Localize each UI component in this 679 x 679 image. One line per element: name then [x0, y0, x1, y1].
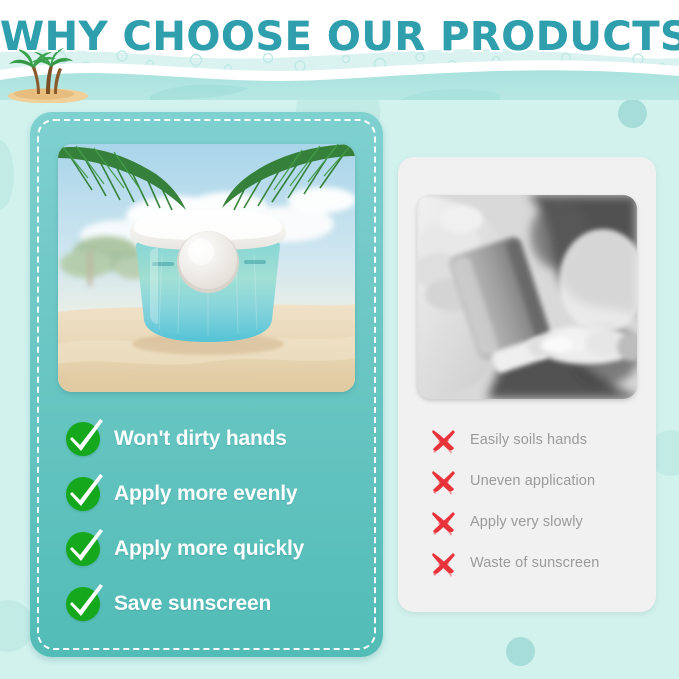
- check-circle-icon: [66, 532, 100, 566]
- list-item: Uneven application: [416, 460, 646, 501]
- cross-mark-icon: [428, 548, 458, 578]
- check-circle-icon: [66, 587, 100, 621]
- cross-mark-icon: [428, 507, 458, 537]
- list-item: Save sunscreen: [52, 577, 365, 631]
- list-item: Easily soils hands: [416, 419, 646, 460]
- check-circle-icon: [66, 422, 100, 456]
- list-item-label: Apply more quickly: [114, 537, 304, 561]
- list-item-label: Apply more evenly: [114, 482, 297, 506]
- cross-mark-icon: [428, 466, 458, 496]
- list-item-label: Won't dirty hands: [114, 427, 287, 451]
- pros-list: Won't dirty hands Apply more evenly Appl…: [52, 412, 365, 632]
- list-item-label: Easily soils hands: [470, 432, 587, 448]
- cross-mark-icon: [428, 425, 458, 455]
- list-item: Apply very slowly: [416, 501, 646, 542]
- list-item: Apply more quickly: [52, 522, 365, 576]
- list-item: Waste of sunscreen: [416, 542, 646, 583]
- decorative-circle-bottom-center: [506, 637, 535, 666]
- list-item: Apply more evenly: [52, 467, 365, 521]
- product-photo-beach: [58, 144, 355, 392]
- decorative-circle-top-right: [618, 99, 647, 128]
- comparison-photo-hands: [417, 195, 637, 399]
- pros-card: Won't dirty hands Apply more evenly Appl…: [30, 112, 383, 657]
- cons-list: Easily soils hands Uneven application: [416, 419, 646, 583]
- list-item-label: Apply very slowly: [470, 514, 583, 530]
- decorative-circle-bottom-left: [0, 600, 34, 652]
- header-banner: WHY CHOOSE OUR PRODUCTS? WHY CHOOSE OUR …: [0, 0, 679, 100]
- cons-card: Easily soils hands Uneven application: [398, 157, 656, 612]
- check-circle-icon: [66, 477, 100, 511]
- page-title: WHY CHOOSE OUR PRODUCTS?: [0, 14, 679, 60]
- list-item-label: Waste of sunscreen: [470, 555, 599, 571]
- list-item: Won't dirty hands: [52, 412, 365, 466]
- list-item-label: Uneven application: [470, 473, 595, 489]
- list-item-label: Save sunscreen: [114, 592, 271, 616]
- decorative-circle-left-edge: [0, 140, 14, 210]
